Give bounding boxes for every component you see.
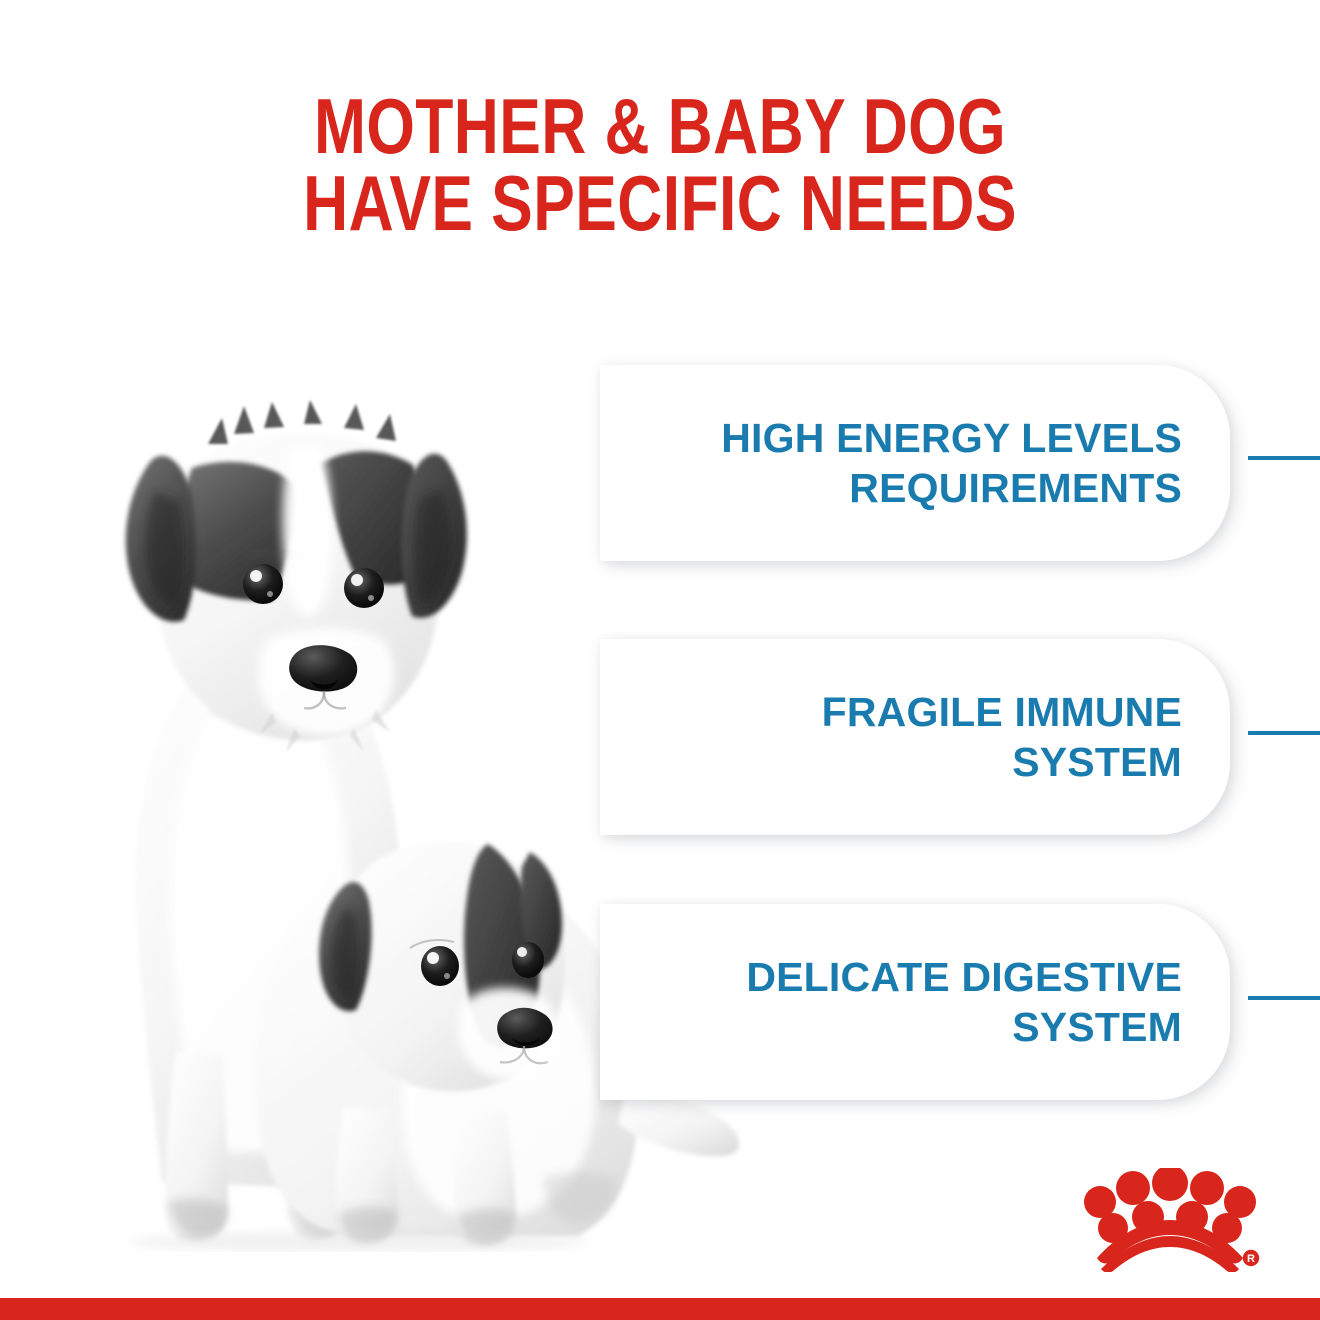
page-title-line-1: MOTHER & BABY DOG: [132, 88, 1188, 165]
callout-panel-delicate-digestive[interactable]: DELICATE DIGESTIVE SYSTEM: [600, 904, 1230, 1100]
page-title: MOTHER & BABY DOG HAVE SPECIFIC NEEDS: [132, 88, 1188, 242]
adult-dog-eye-left: [243, 564, 283, 604]
callout-panel-high-energy[interactable]: HIGH ENERGY LEVELS REQUIREMENTS: [600, 365, 1230, 561]
adult-dog-eye-right: [344, 568, 384, 608]
callout-label-1: HIGH ENERGY LEVELS REQUIREMENTS: [721, 413, 1182, 513]
registered-trademark-icon: R: [1243, 1250, 1259, 1266]
callout-panel-fragile-immune[interactable]: FRAGILE IMMUNE SYSTEM: [600, 639, 1230, 835]
royal-canin-crown-logo: R: [1080, 1168, 1260, 1272]
puppy-eye-left: [421, 946, 459, 986]
svg-text:R: R: [1247, 1253, 1255, 1265]
callout-label-3: DELICATE DIGESTIVE SYSTEM: [746, 952, 1182, 1052]
connector-line-2: [1248, 731, 1320, 735]
poster-canvas: MOTHER & BABY DOG HAVE SPECIFIC NEEDS: [0, 0, 1320, 1320]
puppy-eye-right: [512, 942, 544, 978]
connector-line-3: [1248, 996, 1320, 1000]
page-title-line-2: HAVE SPECIFIC NEEDS: [132, 165, 1188, 242]
bottom-red-bar: [0, 1298, 1320, 1320]
callout-label-2: FRAGILE IMMUNE SYSTEM: [822, 687, 1182, 787]
connector-line-1: [1248, 456, 1320, 460]
